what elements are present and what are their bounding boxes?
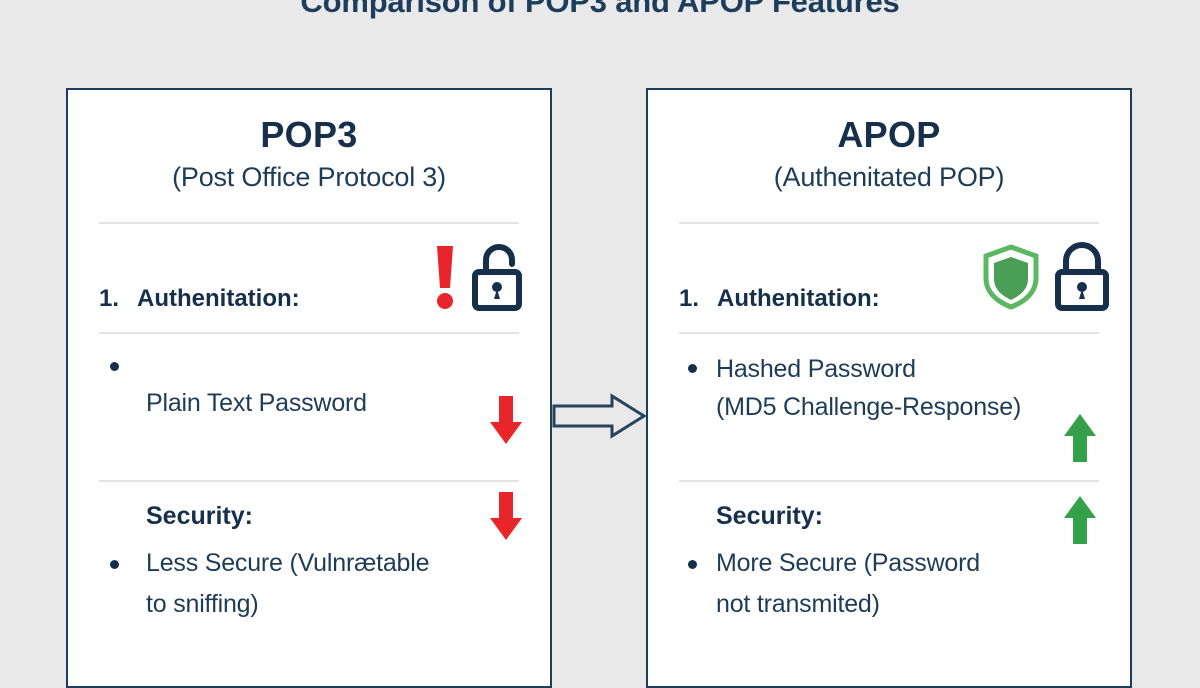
card-pop3-security-text: Less Secure (Vulnrætable to sniffing) <box>146 543 429 625</box>
arrow-down-red-icon <box>488 394 524 446</box>
card-pop3-title: POP3 <box>68 114 550 156</box>
card-apop-auth-detail: Hashed Password (MD5 Challenge-Response) <box>648 334 1130 480</box>
card-apop-security-title: Security: <box>716 502 823 531</box>
card-apop-security-text: More Secure (Password not transmited) <box>716 543 980 625</box>
shield-green-icon <box>982 244 1040 310</box>
card-pop3-header: POP3 (Post Office Protocol 3) <box>68 90 550 196</box>
card-pop3-security-title: Security: <box>146 502 253 531</box>
arrow-up-green-icon <box>1062 412 1098 464</box>
card-apop-subtitle: (Authenitated POP) <box>648 160 1130 195</box>
locked-padlock-icon <box>1052 242 1112 312</box>
card-apop-security-block: Security: More Secure (Password not tran… <box>648 482 1130 632</box>
exclamation-mark-icon <box>432 244 458 310</box>
card-apop-auth-text: Hashed Password (MD5 Challenge-Response) <box>716 350 1021 426</box>
card-pop3-security-block: Security: Less Secure (Vulnrætable to sn… <box>68 482 550 632</box>
card-pop3-subtitle: (Post Office Protocol 3) <box>68 160 550 195</box>
card-pop3-header-icons <box>432 242 532 312</box>
card-apop-section-authentication: 1. Authenitation: <box>648 224 1130 332</box>
unlocked-padlock-icon <box>470 242 532 312</box>
card-pop3: POP3 (Post Office Protocol 3) 1. <box>66 88 552 688</box>
card-pop3-section-authentication: 1. Authenitation: <box>68 224 550 332</box>
card-apop-title: APOP <box>648 114 1130 156</box>
card-apop-header: APOP (Authenitated POP) <box>648 90 1130 196</box>
list-number: 1. <box>99 285 119 332</box>
card-apop-header-icons <box>982 242 1112 312</box>
card-pop3-auth-text: Plain Text Password <box>146 384 367 422</box>
page-title: Comparison of POP3 and APOP Features <box>0 0 1200 20</box>
arrow-up-green-icon <box>1062 494 1098 546</box>
bullet-marker <box>688 560 697 569</box>
bullet-marker <box>688 364 697 373</box>
bullet-marker <box>110 362 119 371</box>
section-heading: Authenitation: <box>137 285 300 332</box>
card-apop: APOP (Authenitated POP) 1. A <box>646 88 1132 688</box>
bullet-marker <box>110 560 119 569</box>
transition-arrow <box>552 392 648 440</box>
card-pop3-auth-detail: Plain Text Password <box>68 334 550 480</box>
section-heading: Authenitation: <box>717 285 880 332</box>
arrow-down-red-icon <box>488 490 524 542</box>
list-number: 1. <box>679 285 699 332</box>
